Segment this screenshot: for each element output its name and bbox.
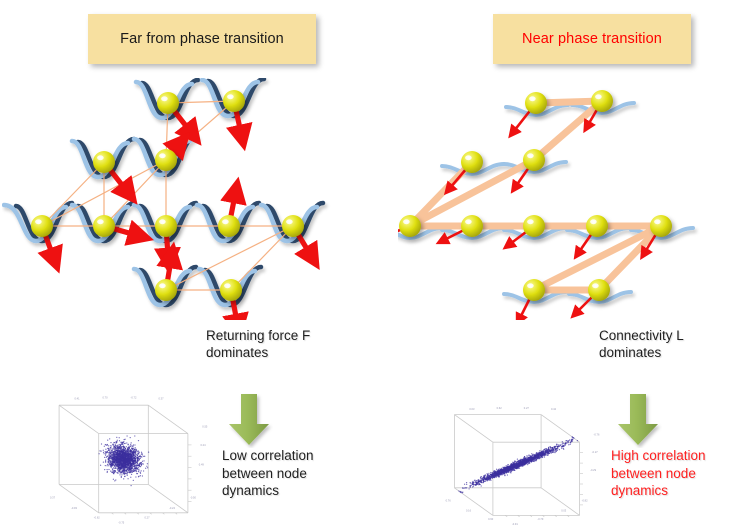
conclusion-right-line-1: High correlation [611, 447, 732, 465]
scatter-tick-label: -0.29 [590, 468, 596, 472]
network-node [523, 149, 545, 171]
network-node [93, 215, 115, 237]
scatter-svg-right: 0.760.160.90-0.91-0.790.03-0.82-0.29-0.2… [432, 404, 602, 526]
network-node [461, 151, 483, 173]
scatter-tick-label: 0.90 [488, 517, 494, 521]
network-node [591, 90, 613, 112]
conclusion-low-correlation: Low correlation between node dynamics [222, 447, 372, 500]
scatter-tick-label: -0.24 [169, 506, 175, 510]
network-node [399, 215, 421, 237]
network-node [282, 215, 304, 237]
scatter-box-edge [148, 405, 188, 433]
network-node [461, 215, 483, 237]
flow-arrow-down-icon-left [225, 392, 273, 453]
conclusion-left-line-2: between node [222, 465, 372, 483]
scatter-tick-label: 0.62 [497, 406, 503, 410]
panel-title-near-transition: Near phase transition [493, 14, 691, 64]
caption-left-line-1: Returning force F [206, 327, 366, 344]
scatter-plot-high-correlation: 0.760.160.90-0.91-0.790.03-0.82-0.29-0.2… [432, 404, 602, 526]
network-svg-right [398, 78, 732, 320]
scatter-svg-left: 0.37-0.93-0.62-0.750.27-0.24-0.500.490.2… [36, 393, 211, 525]
diagram-canvas: Far from phase transition Near phase tra… [0, 0, 732, 529]
network-node [155, 215, 177, 237]
scatter-tick-label: -0.79 [537, 517, 543, 521]
scatter-tick-label: -0.27 [592, 450, 598, 454]
network-edges-left [42, 101, 293, 290]
network-diagram-near-transition [398, 78, 732, 320]
scatter-tick-label: 0.03 [561, 508, 567, 512]
network-node [586, 215, 608, 237]
network-edge [231, 226, 293, 290]
scatter-tick-label: 0.70 [103, 395, 109, 399]
scatter-tick-label: 0.42 [551, 407, 557, 411]
scatter-tick-label: 0.37 [50, 496, 56, 500]
caption-left-line-2: dominates [206, 344, 366, 361]
scatter-tick-label: -0.91 [512, 522, 518, 526]
scatter-tick-label: -0.93 [71, 506, 77, 510]
scatter-points-right [458, 436, 578, 493]
conclusion-high-correlation: High correlation between node dynamics [611, 447, 732, 500]
network-node [155, 149, 177, 171]
flow-arrow-down-icon-right [614, 392, 662, 453]
conclusion-left-line-1: Low correlation [222, 447, 372, 465]
network-node [31, 215, 53, 237]
network-node [525, 92, 547, 114]
caption-connectivity: Connectivity L dominates [599, 327, 732, 361]
network-node [93, 151, 115, 173]
scatter-tick-label: 0.37 [159, 397, 165, 401]
scatter-tick-label: 0.76 [446, 499, 452, 503]
network-node [523, 279, 545, 301]
scatter-tick-label: -0.76 [594, 433, 600, 437]
caption-returning-force: Returning force F dominates [206, 327, 366, 361]
conclusion-right-line-2: between node [611, 465, 732, 483]
scatter-tick-label: 0.27 [145, 515, 151, 519]
network-node [650, 215, 672, 237]
scatter-tick-label: 0.24 [201, 443, 207, 447]
network-node [157, 92, 179, 114]
scatter-box-edge [59, 484, 99, 512]
scatter-tick-label: 0.03 [469, 407, 475, 411]
network-node [223, 90, 245, 112]
scatter-tick-label: -0.62 [94, 515, 100, 519]
scatter-box-edge [59, 405, 99, 433]
network-node [220, 279, 242, 301]
network-svg-left [2, 78, 354, 320]
scatter-plot-low-correlation: 0.37-0.93-0.62-0.750.27-0.24-0.500.490.2… [36, 393, 211, 525]
scatter-tick-label: 0.16 [466, 508, 472, 512]
caption-right-line-1: Connectivity L [599, 327, 732, 344]
conclusion-right-line-3: dynamics [611, 482, 732, 500]
caption-right-line-2: dominates [599, 344, 732, 361]
network-node [218, 215, 240, 237]
network-edges-right [410, 101, 661, 290]
network-diagram-far-from-transition [2, 78, 354, 320]
network-node [588, 279, 610, 301]
panel-title-far-from-transition: Far from phase transition [88, 14, 316, 64]
scatter-tick-label: 0.41 [75, 397, 81, 401]
scatter-tick-label: 0.27 [524, 406, 530, 410]
scatter-tick-label: -0.75 [118, 521, 124, 525]
potential-wells-right [398, 103, 693, 302]
scatter-tick-label: -0.72 [131, 395, 137, 399]
scatter-tick-label: -0.50 [190, 496, 196, 500]
network-edge [42, 162, 104, 226]
network-nodes-right [398, 90, 672, 318]
scatter-points-left [98, 435, 149, 486]
scatter-tick-label: -0.82 [582, 499, 588, 503]
network-node [523, 215, 545, 237]
scatter-box-edge [454, 415, 493, 443]
scatter-tick-label: 0.55 [202, 424, 208, 428]
scatter-tick-label: 0.49 [199, 463, 205, 467]
conclusion-left-line-3: dynamics [222, 482, 372, 500]
network-node [155, 279, 177, 301]
